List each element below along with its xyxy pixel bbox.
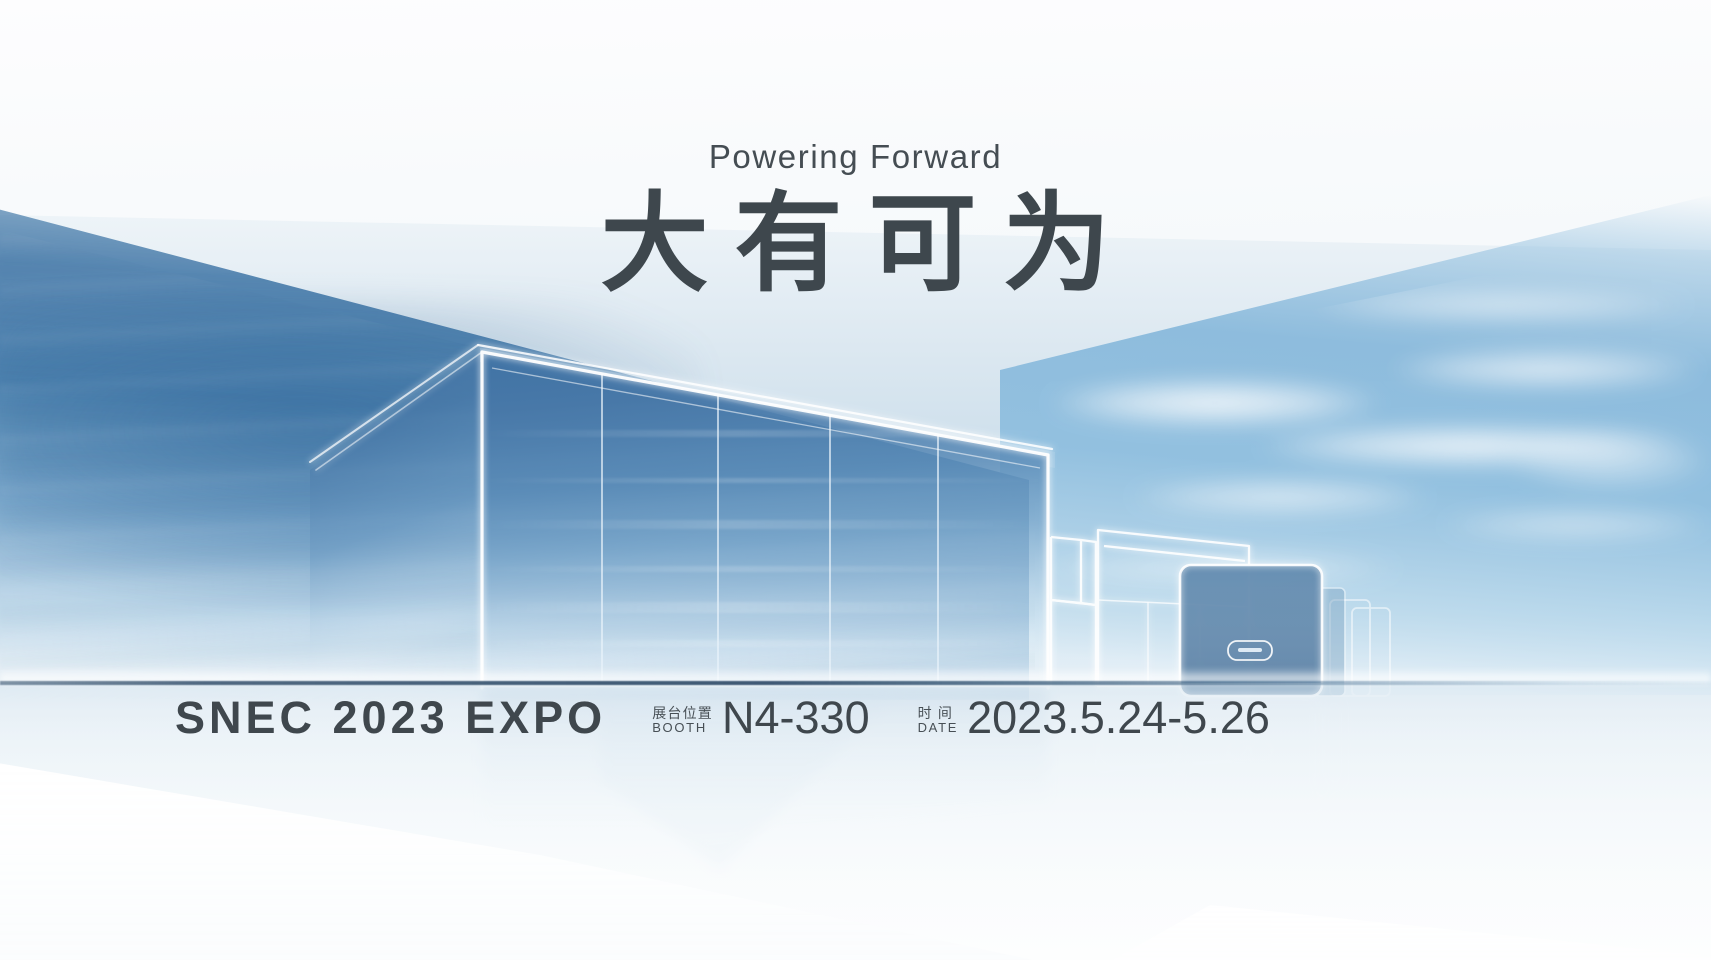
booth-value: N4-330 — [722, 695, 870, 740]
expo-title: SNEC 2023 EXPO — [175, 695, 606, 740]
eyebrow-text: Powering Forward — [0, 140, 1711, 173]
date-label: 时 间 DATE — [918, 706, 959, 740]
banner-canvas: Powering Forward 大有可为 SNEC 2023 EXPO 展台位… — [0, 0, 1711, 960]
date-label-en: DATE — [918, 721, 959, 735]
date-label-cn: 时 间 — [918, 706, 954, 721]
date-info: 时 间 DATE 2023.5.24-5.26 — [918, 695, 1270, 740]
booth-label: 展台位置 BOOTH — [652, 706, 713, 740]
booth-label-cn: 展台位置 — [652, 706, 713, 721]
date-value: 2023.5.24-5.26 — [967, 695, 1270, 740]
headline-block: Powering Forward 大有可为 — [0, 140, 1711, 300]
event-info-strip: SNEC 2023 EXPO 展台位置 BOOTH N4-330 时 间 DAT… — [175, 695, 1270, 740]
booth-info: 展台位置 BOOTH N4-330 — [652, 695, 869, 740]
horizon-line — [0, 681, 1711, 685]
booth-label-en: BOOTH — [652, 721, 707, 735]
page-title: 大有可为 — [0, 187, 1711, 300]
